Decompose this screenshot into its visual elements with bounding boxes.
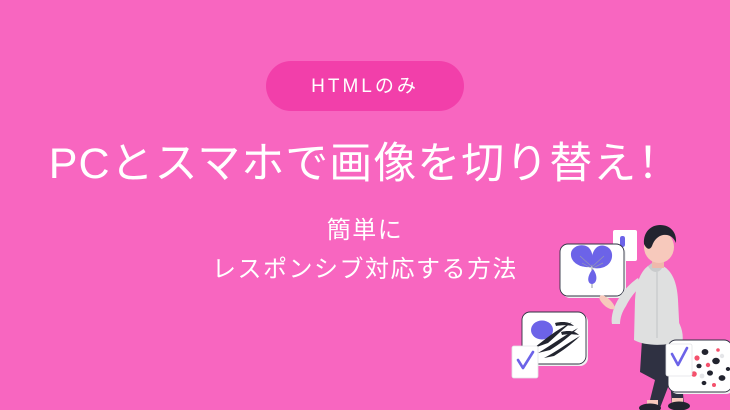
check-badge-icon-right [666, 344, 692, 376]
page-title: PCとスマホで画像を切り替え！ [0, 139, 730, 190]
html-only-badge: HTMLのみ [266, 61, 464, 111]
promo-banner: HTMLのみ PCとスマホで画像を切り替え！ 簡単に レスポンシブ対応する方法 [0, 0, 730, 410]
badge-label: HTMLのみ [311, 77, 419, 96]
check-badge-icon-left [512, 346, 538, 378]
illustration-person-with-image-cards [500, 222, 730, 410]
leaf-card [560, 244, 626, 298]
